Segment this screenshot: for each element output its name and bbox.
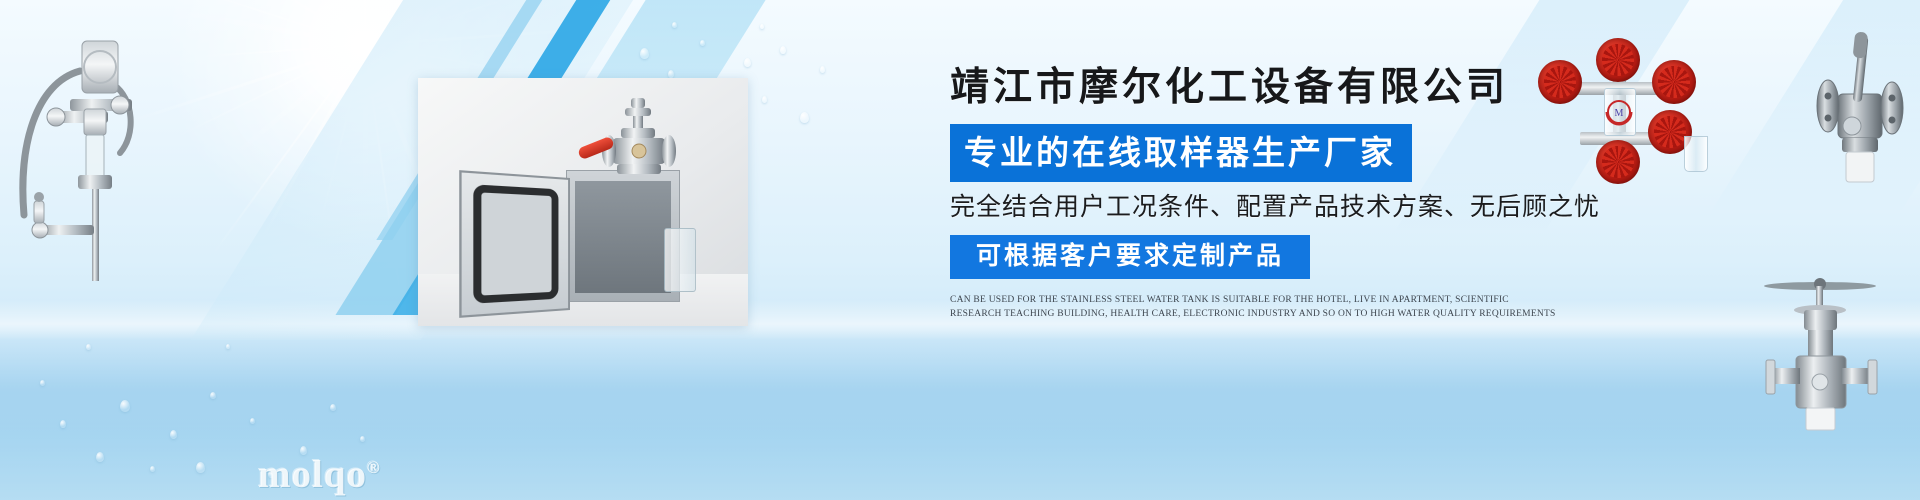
water-drop xyxy=(150,466,155,472)
water-drop xyxy=(96,452,104,462)
sun-ray xyxy=(225,0,367,46)
svg-text:M: M xyxy=(1615,108,1624,119)
water-drop xyxy=(40,380,45,386)
water-drop xyxy=(226,344,230,349)
photo-cabinet xyxy=(566,170,680,302)
water-drop xyxy=(196,462,205,473)
water-drop xyxy=(210,392,216,399)
sun-ray xyxy=(171,44,365,140)
sun-ray xyxy=(227,43,367,161)
sun-ray xyxy=(365,26,609,46)
water-drop xyxy=(760,24,764,29)
lever-valve-icon xyxy=(1790,30,1920,190)
flanged-sampling-valve xyxy=(1750,270,1890,445)
photo-cabinet-interior xyxy=(575,181,671,293)
water-drop xyxy=(668,70,674,78)
water-drop xyxy=(672,22,677,28)
sun-ray xyxy=(364,0,493,46)
sun-ray xyxy=(308,0,366,45)
watermark-text: molqo xyxy=(258,453,367,496)
sun-ray xyxy=(363,0,431,46)
flanged-valve-icon xyxy=(1750,270,1890,445)
photo-cabinet-door xyxy=(459,170,570,318)
water-drop xyxy=(86,344,91,350)
sun-ray xyxy=(211,44,366,256)
water-drop xyxy=(120,400,130,412)
brand-watermark: molqo® xyxy=(258,455,381,494)
water-drop xyxy=(820,66,825,73)
product-photo xyxy=(418,78,748,326)
water-drop xyxy=(762,96,767,103)
banner-text-block: 靖江市摩尔化工设备有限公司 专业的在线取样器生产厂家 完全结合用户工况条件、配置… xyxy=(950,68,1610,321)
sun-ray xyxy=(365,0,562,46)
water-drop xyxy=(700,40,705,46)
water-drop xyxy=(60,420,66,428)
sun-ray xyxy=(259,44,367,243)
sun-ray xyxy=(364,0,366,45)
water-drop xyxy=(330,404,336,411)
tagline-badge: 可根据客户要求定制产品 xyxy=(950,235,1310,279)
water-drop xyxy=(744,58,751,67)
sun-ray xyxy=(196,44,365,58)
sun-ray xyxy=(365,44,524,74)
lever-sampling-valve xyxy=(1790,30,1920,190)
sun-ray xyxy=(364,0,519,47)
sun-ray xyxy=(364,0,450,45)
company-name: 靖江市摩尔化工设备有限公司 xyxy=(950,68,1610,107)
left-sampler-device xyxy=(10,25,170,285)
photo-sample-bottle xyxy=(664,228,696,292)
headline-badge: 专业的在线取样器生产厂家 xyxy=(950,124,1412,182)
english-description: CAN BE USED FOR THE STAINLESS STEEL WATE… xyxy=(950,293,1557,321)
water-drop xyxy=(360,436,365,442)
sun-ray xyxy=(162,7,366,48)
sub-headline: 完全结合用户工况条件、配置产品技术方案、无后顾之忧 xyxy=(950,195,1610,220)
sun-ray xyxy=(364,45,403,306)
water-drop xyxy=(800,112,809,123)
sun-ray xyxy=(227,0,365,46)
sample-collection-bottle xyxy=(1684,136,1708,172)
valve-wheel-right xyxy=(1652,60,1696,104)
water-drop xyxy=(170,430,177,439)
promo-banner: M xyxy=(0,0,1920,500)
water-drop xyxy=(250,418,255,424)
water-drop xyxy=(640,48,649,59)
water-drop xyxy=(780,46,786,54)
registered-mark-icon: ® xyxy=(367,458,381,477)
sun-ray xyxy=(319,45,366,227)
sun-ray xyxy=(229,0,366,46)
sun-ray xyxy=(364,0,559,46)
sun-ray xyxy=(337,0,366,45)
photo-door-seal xyxy=(473,184,558,303)
left-sampler-icon xyxy=(10,25,170,285)
sun-ray xyxy=(363,45,368,195)
